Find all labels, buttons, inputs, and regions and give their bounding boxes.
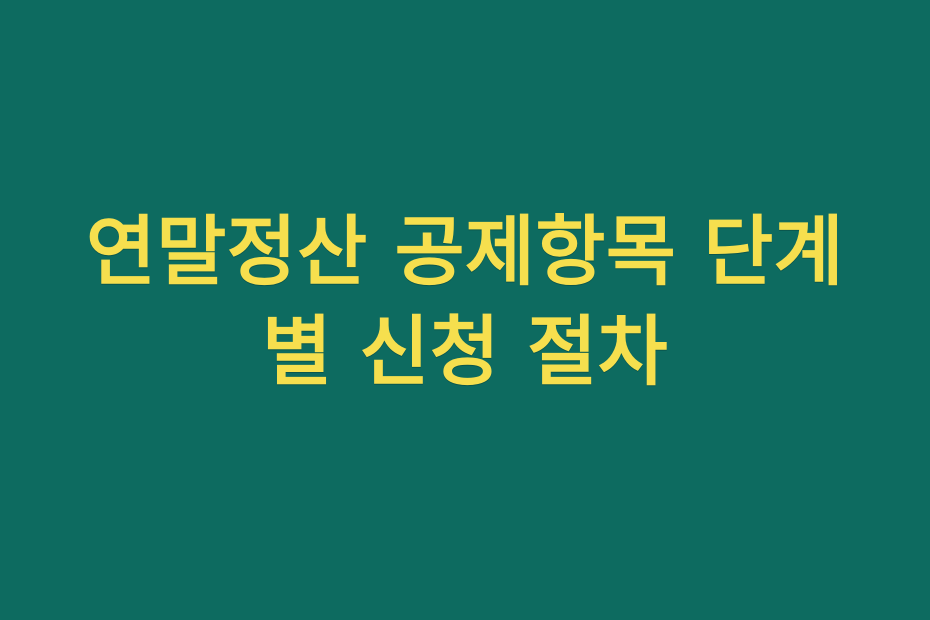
page-title: 연말정산 공제항목 단계 별 신청 절차: [0, 202, 930, 403]
title-line-2: 별 신청 절차: [56, 302, 874, 402]
title-line-1: 연말정산 공제항목 단계: [56, 202, 874, 302]
thumbnail-card: 연말정산 공제항목 단계 별 신청 절차: [0, 0, 930, 620]
